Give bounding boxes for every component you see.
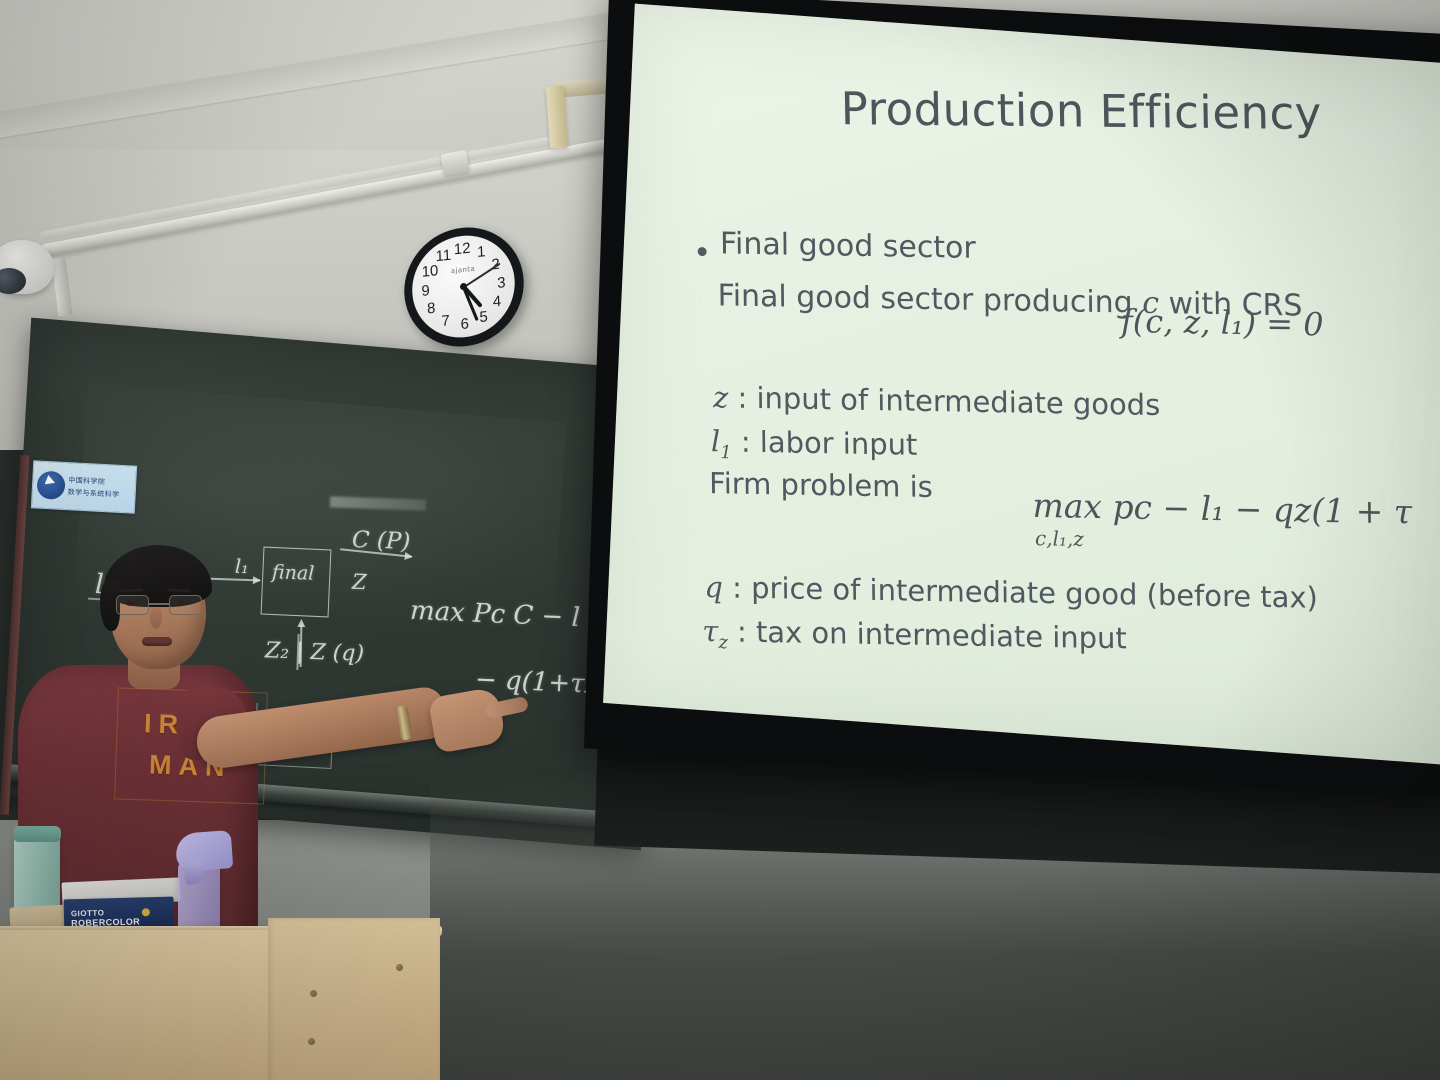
podium-side-panel (268, 918, 440, 1080)
slide-symbol-tau: τz (702, 614, 728, 648)
glasses-bridge (149, 603, 169, 605)
lecturer-eye-right (176, 601, 185, 606)
institution-logo-icon (36, 471, 65, 500)
slide-line-producing-text: Final good sector producing (717, 278, 1132, 320)
slide-line-tau-definition: τz : tax on intermediate input (702, 614, 1127, 660)
clock-numeral: 11 (434, 248, 452, 265)
sticker-text-group: 中国科学院 数学与系统科学 (67, 475, 120, 500)
slide-line-l-definition: l1 : labor input (711, 424, 918, 466)
lecturer-mouth (142, 637, 172, 646)
slide-line-firm-problem: Firm problem is (709, 466, 933, 504)
clock-numeral: 8 (422, 300, 440, 317)
slide-line-z-definition: z : input of intermediate goods (713, 380, 1160, 422)
podium-screw-2 (310, 990, 317, 997)
thermos-cap (13, 826, 61, 842)
clock-face: ajanta 121234567891011 (411, 231, 517, 343)
slide-line-q-text: : price of intermediate good (before tax… (732, 570, 1318, 614)
sticker-line-1: 中国科学院 (68, 475, 120, 488)
slide-bullet-final-good-sector: Final good sector (720, 226, 976, 266)
clock-numeral: 3 (492, 274, 510, 291)
bullet-point-icon (697, 247, 706, 257)
slide-symbol-z: z (713, 380, 729, 414)
slide-equation-choice-variables: c,l₁,z (1035, 526, 1084, 551)
slide-symbol-l: l1 (711, 424, 732, 458)
lecturer-nose (150, 607, 162, 629)
sticker-line-2: 数学与系统科学 (67, 487, 119, 500)
slide: Production Efficiency Final good sector … (603, 4, 1440, 765)
lecturer-eye-left (126, 601, 135, 606)
slide-symbol-q: q (704, 570, 723, 604)
clock-numeral: 12 (453, 241, 471, 258)
podium-front-panel (0, 930, 280, 1080)
glasses-lens-right (169, 595, 202, 615)
slide-line-q-definition: q : price of intermediate good (before t… (704, 570, 1318, 615)
clock-numeral: 6 (456, 316, 474, 333)
slide-line-z-text: : input of intermediate goods (737, 381, 1160, 422)
slide-line-tau-text: : tax on intermediate input (737, 615, 1127, 656)
institution-sticker: 中国科学院 数学与系统科学 (31, 460, 137, 513)
slide-title: Production Efficiency (840, 82, 1322, 140)
wall-clock: ajanta 121234567891011 (404, 228, 524, 346)
slide-equation-objective: max pc − l₁ − qz(1 + τ (1032, 486, 1412, 532)
slide-line-l-text: : labor input (741, 425, 918, 462)
conduit-junction-box (440, 150, 469, 176)
slide-equation-production-function: f(c, z, l₁) = 0 (1121, 302, 1324, 344)
clock-bezel: ajanta 121234567891011 (402, 222, 525, 353)
podium-screw-1 (396, 964, 403, 971)
classroom-photo: ajanta 121234567891011 l = l l₁ final C … (0, 0, 1440, 1080)
clock-numeral: 9 (416, 282, 434, 299)
podium-screw-3 (308, 1038, 315, 1045)
clock-brand-label: ajanta (451, 265, 476, 276)
